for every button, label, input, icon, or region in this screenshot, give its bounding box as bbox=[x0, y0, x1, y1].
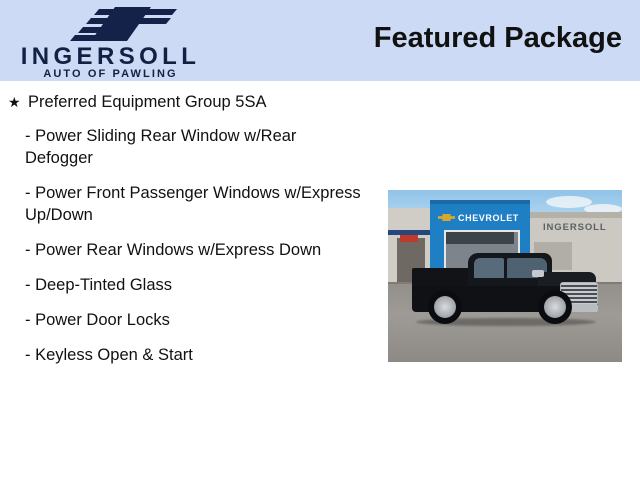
feature-heading-row: ★ Preferred Equipment Group 5SA bbox=[8, 92, 368, 113]
photo-chevrolet-sign: CHEVROLET bbox=[438, 210, 522, 225]
photo-chevrolet-sign-text: CHEVROLET bbox=[458, 213, 519, 223]
feature-heading-text: Preferred Equipment Group 5SA bbox=[28, 92, 368, 113]
truck-rear-window bbox=[474, 258, 504, 278]
logo-tagline: AUTO OF PAWLING bbox=[8, 68, 213, 80]
list-item: - Power Door Locks bbox=[8, 309, 368, 331]
list-item: - Keyless Open & Start bbox=[8, 344, 368, 366]
feature-list: ★ Preferred Equipment Group 5SA - Power … bbox=[8, 92, 368, 379]
photo-building-sign-text: INGERSOLL bbox=[543, 222, 607, 233]
photo-showroom-top-trim bbox=[430, 200, 530, 204]
page-title: Featured Package bbox=[374, 22, 622, 55]
chevrolet-bowtie-icon bbox=[438, 214, 455, 221]
truck-illustration bbox=[410, 248, 602, 326]
photo-building-right-roof bbox=[528, 212, 622, 218]
photo-service-bay-glass bbox=[446, 232, 514, 244]
list-item: - Power Rear Windows w/Express Down bbox=[8, 239, 368, 261]
star-bullet-icon: ★ bbox=[8, 92, 28, 113]
truck-mirror bbox=[532, 270, 544, 277]
logo-wordmark: INGERSOLL bbox=[8, 44, 213, 70]
list-item: - Power Sliding Rear Window w/Rear Defog… bbox=[8, 125, 368, 169]
photo-building-left-sign bbox=[400, 235, 418, 242]
dealer-logo[interactable]: INGERSOLL AUTO OF PAWLING bbox=[8, 4, 213, 78]
truck-front-wheel bbox=[538, 290, 572, 324]
winged-speed-emblem-icon bbox=[53, 6, 178, 42]
list-item: - Deep-Tinted Glass bbox=[8, 274, 368, 296]
list-item: - Power Front Passenger Windows w/Expres… bbox=[8, 182, 368, 226]
vehicle-photo[interactable]: INGERSOLL CHEVROLET bbox=[388, 190, 622, 362]
truck-rear-wheel bbox=[428, 290, 462, 324]
